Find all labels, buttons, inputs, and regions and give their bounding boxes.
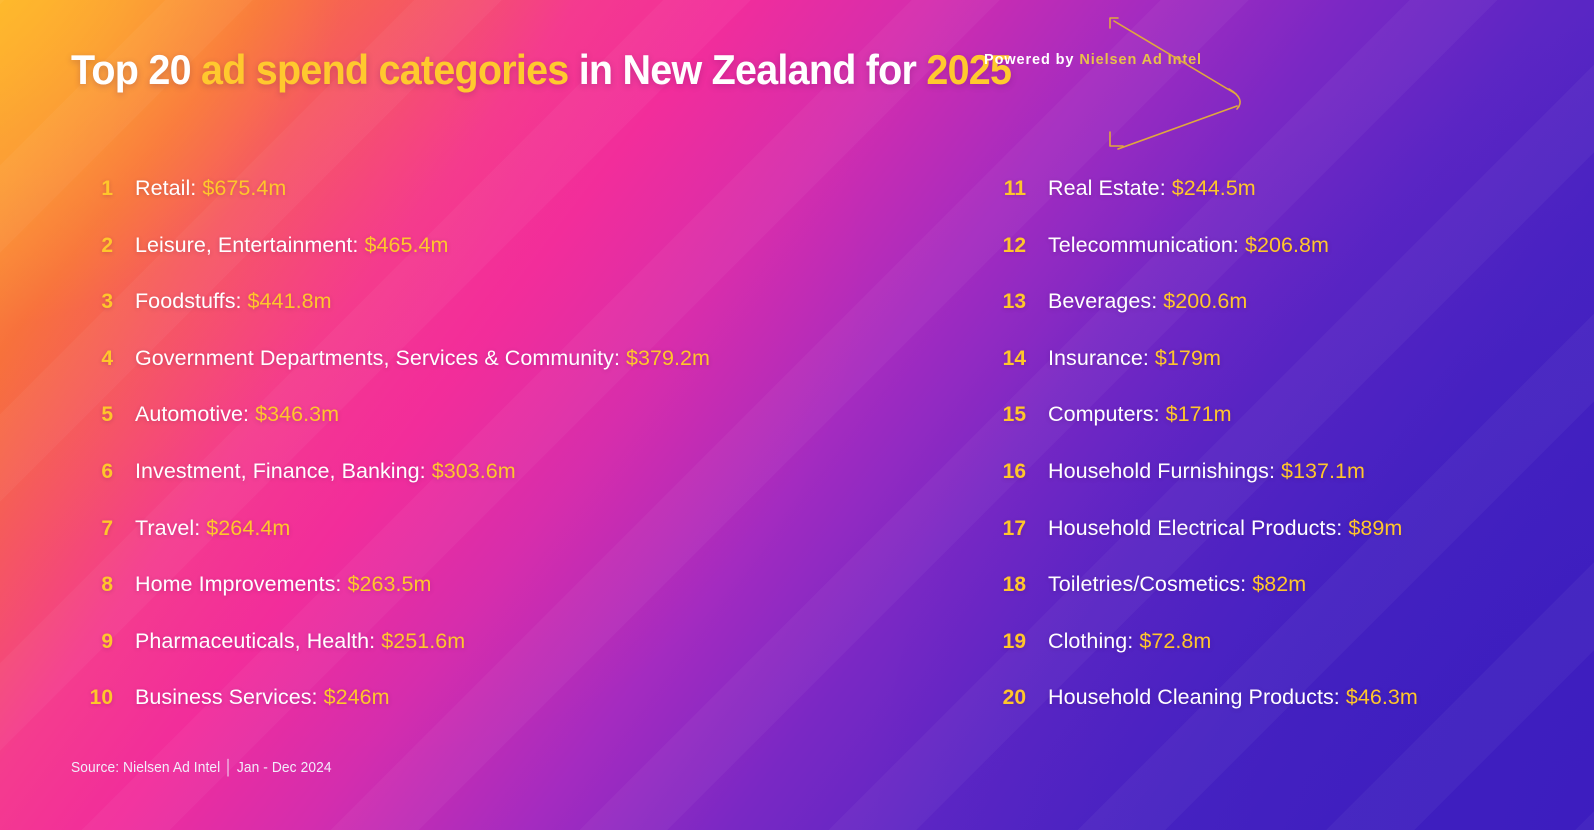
category-label: Foodstuffs: bbox=[135, 289, 248, 313]
category-amount: $246m bbox=[324, 685, 390, 709]
category-label: Insurance: bbox=[1048, 346, 1155, 370]
category-amount: $179m bbox=[1155, 346, 1221, 370]
rank-number: 17 bbox=[984, 517, 1026, 541]
infographic-poster: Top 20 ad spend categories in New Zealan… bbox=[0, 0, 1594, 830]
category-label: Automotive: bbox=[135, 402, 255, 426]
category-amount: $82m bbox=[1252, 572, 1306, 596]
rank-number: 3 bbox=[71, 290, 113, 314]
category-entry: Foodstuffs: $441.8m bbox=[135, 289, 332, 314]
category-label: Clothing: bbox=[1048, 629, 1139, 653]
rank-number: 5 bbox=[71, 403, 113, 427]
list-item[interactable]: 14 Insurance: $179m bbox=[984, 346, 1554, 403]
rank-number: 8 bbox=[71, 573, 113, 597]
category-entry: Real Estate: $244.5m bbox=[1048, 176, 1256, 201]
rank-number: 7 bbox=[71, 517, 113, 541]
rank-number: 19 bbox=[984, 630, 1026, 654]
category-amount: $72.8m bbox=[1139, 629, 1211, 653]
list-item[interactable]: 9 Pharmaceuticals, Health: $251.6m bbox=[71, 629, 951, 686]
rank-number: 13 bbox=[984, 290, 1026, 314]
category-amount: $675.4m bbox=[202, 176, 286, 200]
category-amount: $206.8m bbox=[1245, 233, 1329, 257]
category-label: Real Estate: bbox=[1048, 176, 1172, 200]
category-entry: Household Furnishings: $137.1m bbox=[1048, 459, 1365, 484]
category-amount: $89m bbox=[1348, 516, 1402, 540]
category-entry: Telecommunication: $206.8m bbox=[1048, 233, 1329, 258]
list-item[interactable]: 12 Telecommunication: $206.8m bbox=[984, 233, 1554, 290]
category-amount: $379.2m bbox=[626, 346, 710, 370]
category-label: Travel: bbox=[135, 516, 206, 540]
rank-number: 16 bbox=[984, 460, 1026, 484]
list-item[interactable]: 18 Toiletries/Cosmetics: $82m bbox=[984, 572, 1554, 629]
category-label: Business Services: bbox=[135, 685, 324, 709]
category-amount: $465.4m bbox=[364, 233, 448, 257]
list-item[interactable]: 17 Household Electrical Products: $89m bbox=[984, 516, 1554, 573]
category-amount: $137.1m bbox=[1281, 459, 1365, 483]
list-item[interactable]: 19 Clothing: $72.8m bbox=[984, 629, 1554, 686]
category-label: Household Electrical Products: bbox=[1048, 516, 1348, 540]
category-entry: Retail: $675.4m bbox=[135, 176, 286, 201]
powered-by-line: Powered by Nielsen Ad Intel bbox=[984, 52, 1202, 68]
ranking-column-left: 1 Retail: $675.4m 2 Leisure, Entertainme… bbox=[71, 176, 951, 742]
list-item[interactable]: 13 Beverages: $200.6m bbox=[984, 289, 1554, 346]
category-label: Toiletries/Cosmetics: bbox=[1048, 572, 1252, 596]
category-label: Telecommunication: bbox=[1048, 233, 1245, 257]
category-entry: Leisure, Entertainment: $465.4m bbox=[135, 233, 449, 258]
category-label: Pharmaceuticals, Health: bbox=[135, 629, 381, 653]
category-amount: $46.3m bbox=[1346, 685, 1418, 709]
list-item[interactable]: 6 Investment, Finance, Banking: $303.6m bbox=[71, 459, 951, 516]
list-item[interactable]: 16 Household Furnishings: $137.1m bbox=[984, 459, 1554, 516]
rank-number: 20 bbox=[984, 686, 1026, 710]
category-entry: Business Services: $246m bbox=[135, 685, 390, 710]
category-entry: Automotive: $346.3m bbox=[135, 402, 339, 427]
rank-number: 10 bbox=[71, 686, 113, 710]
category-entry: Investment, Finance, Banking: $303.6m bbox=[135, 459, 516, 484]
category-entry: Clothing: $72.8m bbox=[1048, 629, 1211, 654]
category-label: Investment, Finance, Banking: bbox=[135, 459, 432, 483]
rank-number: 11 bbox=[984, 177, 1026, 201]
list-item[interactable]: 2 Leisure, Entertainment: $465.4m bbox=[71, 233, 951, 290]
rank-number: 9 bbox=[71, 630, 113, 654]
category-entry: Household Cleaning Products: $46.3m bbox=[1048, 685, 1418, 710]
list-item[interactable]: 5 Automotive: $346.3m bbox=[71, 402, 951, 459]
category-label: Leisure, Entertainment: bbox=[135, 233, 364, 257]
title-part-one: Top 20 bbox=[71, 46, 201, 93]
title-highlight: ad spend categories bbox=[201, 46, 568, 93]
rank-number: 1 bbox=[71, 177, 113, 201]
category-entry: Beverages: $200.6m bbox=[1048, 289, 1247, 314]
list-item[interactable]: 15 Computers: $171m bbox=[984, 402, 1554, 459]
list-item[interactable]: 1 Retail: $675.4m bbox=[71, 176, 951, 233]
category-amount: $303.6m bbox=[432, 459, 516, 483]
list-item[interactable]: 7 Travel: $264.4m bbox=[71, 516, 951, 573]
source-note: Source: Nielsen Ad Intel │ Jan - Dec 202… bbox=[71, 760, 332, 776]
category-entry: Household Electrical Products: $89m bbox=[1048, 516, 1402, 541]
rank-number: 2 bbox=[71, 234, 113, 258]
category-amount: $263.5m bbox=[347, 572, 431, 596]
ranking-column-right: 11 Real Estate: $244.5m 12 Telecommunica… bbox=[984, 176, 1554, 742]
category-label: Beverages: bbox=[1048, 289, 1163, 313]
category-entry: Computers: $171m bbox=[1048, 402, 1232, 427]
list-item[interactable]: 3 Foodstuffs: $441.8m bbox=[71, 289, 951, 346]
rank-number: 6 bbox=[71, 460, 113, 484]
category-label: Retail: bbox=[135, 176, 202, 200]
category-label: Home Improvements: bbox=[135, 572, 347, 596]
list-item[interactable]: 20 Household Cleaning Products: $46.3m bbox=[984, 685, 1554, 742]
category-amount: $251.6m bbox=[381, 629, 465, 653]
rank-number: 14 bbox=[984, 347, 1026, 371]
category-label: Household Cleaning Products: bbox=[1048, 685, 1346, 709]
category-amount: $244.5m bbox=[1172, 176, 1256, 200]
category-amount: $171m bbox=[1166, 402, 1232, 426]
category-amount: $441.8m bbox=[248, 289, 332, 313]
category-amount: $346.3m bbox=[255, 402, 339, 426]
rank-number: 12 bbox=[984, 234, 1026, 258]
category-entry: Insurance: $179m bbox=[1048, 346, 1221, 371]
rank-number: 4 bbox=[71, 347, 113, 371]
list-item[interactable]: 11 Real Estate: $244.5m bbox=[984, 176, 1554, 233]
category-label: Household Furnishings: bbox=[1048, 459, 1281, 483]
rank-number: 15 bbox=[984, 403, 1026, 427]
list-item[interactable]: 4 Government Departments, Services & Com… bbox=[71, 346, 951, 403]
list-item[interactable]: 10 Business Services: $246m bbox=[71, 685, 951, 742]
category-label: Government Departments, Services & Commu… bbox=[135, 346, 626, 370]
category-amount: $264.4m bbox=[206, 516, 290, 540]
powered-by-prefix: Powered by bbox=[984, 52, 1079, 68]
title-part-two: in New Zealand for bbox=[568, 46, 926, 93]
rank-number: 18 bbox=[984, 573, 1026, 597]
category-amount: $200.6m bbox=[1163, 289, 1247, 313]
category-entry: Toiletries/Cosmetics: $82m bbox=[1048, 572, 1306, 597]
category-entry: Government Departments, Services & Commu… bbox=[135, 346, 710, 371]
category-label: Computers: bbox=[1048, 402, 1166, 426]
powered-by-brand: Nielsen Ad Intel bbox=[1079, 52, 1202, 68]
list-item[interactable]: 8 Home Improvements: $263.5m bbox=[71, 572, 951, 629]
category-entry: Pharmaceuticals, Health: $251.6m bbox=[135, 629, 465, 654]
category-entry: Travel: $264.4m bbox=[135, 516, 290, 541]
category-entry: Home Improvements: $263.5m bbox=[135, 572, 431, 597]
